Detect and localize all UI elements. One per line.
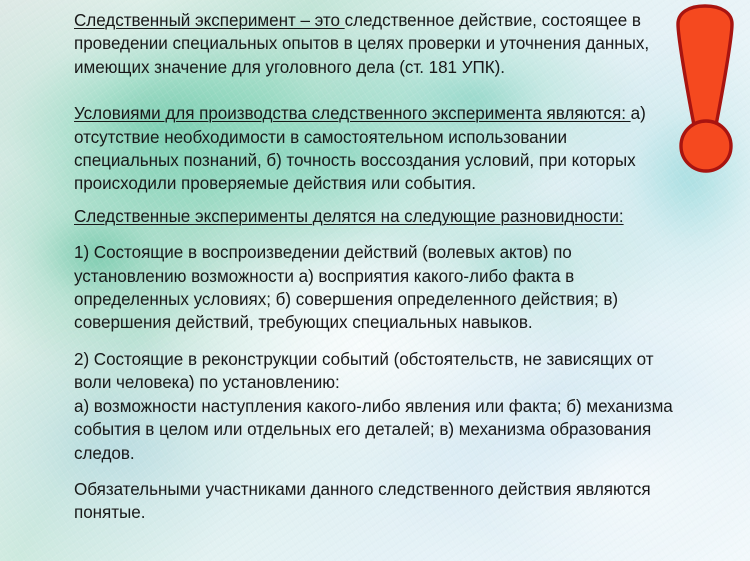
kind-1-body: 1) Состоящие в воспроизведении действий …: [74, 243, 618, 332]
conditions-underlined-lead: Условиями для производства следственного…: [74, 104, 631, 123]
paragraph-kind-1: 1) Состоящие в воспроизведении действий …: [74, 241, 674, 335]
slide-canvas: Следственный эксперимент – это следствен…: [0, 0, 750, 561]
kind-2-sub-body: а) возможности наступления какого-либо я…: [74, 397, 673, 463]
paragraph-kinds-heading: Следственные эксперименты делятся на сле…: [74, 205, 674, 228]
definition-underlined-lead: Следственный эксперимент – это: [74, 11, 345, 30]
kinds-heading-underlined: Следственные эксперименты делятся на сле…: [74, 207, 624, 226]
exclamation-dot-icon: [678, 118, 734, 174]
paragraph-kind-2: 2) Состоящие в реконструкции событий (об…: [74, 348, 674, 395]
paragraph-participants: Обязательными участниками данного следст…: [74, 478, 674, 525]
kind-2-body: 2) Состоящие в реконструкции событий (об…: [74, 350, 654, 392]
paragraph-conditions: Условиями для производства следственного…: [74, 102, 674, 196]
slide-text-content: Следственный эксперимент – это следствен…: [74, 0, 674, 525]
paragraph-kind-2-sub: а) возможности наступления какого-либо я…: [74, 395, 674, 465]
paragraph-definition: Следственный эксперимент – это следствен…: [74, 9, 674, 79]
participants-body: Обязательными участниками данного следст…: [74, 480, 651, 522]
